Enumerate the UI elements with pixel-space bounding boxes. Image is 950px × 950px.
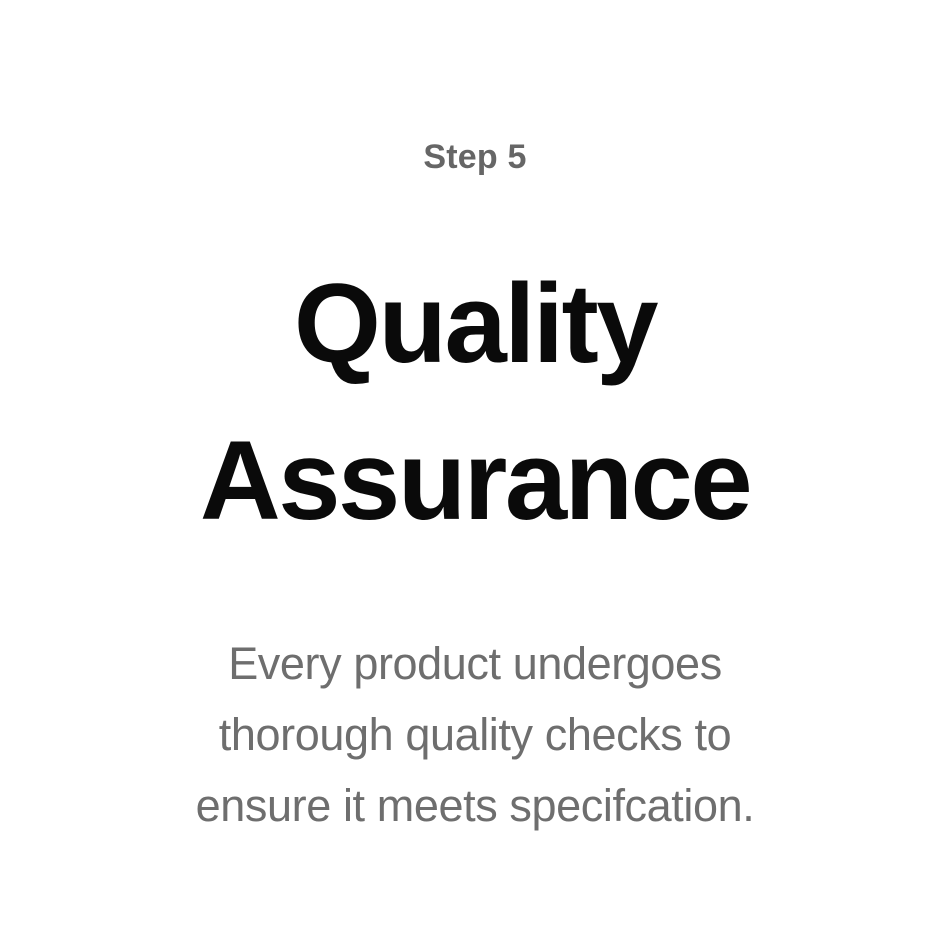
slide-content: Step 5 Quality Assurance Every product u… — [0, 0, 950, 841]
slide-canvas: Step 5 Quality Assurance Every product u… — [0, 0, 950, 950]
body-line-3: ensure it meets specifcation. — [196, 770, 755, 841]
body-line-1: Every product undergoes — [196, 628, 755, 699]
body-line-2: thorough quality checks to — [196, 699, 755, 770]
body-paragraph: Every product undergoes thorough quality… — [196, 628, 755, 841]
headline-line-2: Assurance — [200, 402, 750, 559]
step-eyebrow-label: Step 5 — [423, 131, 526, 183]
page-title: Quality Assurance — [200, 245, 750, 559]
headline-line-1: Quality — [200, 245, 750, 402]
